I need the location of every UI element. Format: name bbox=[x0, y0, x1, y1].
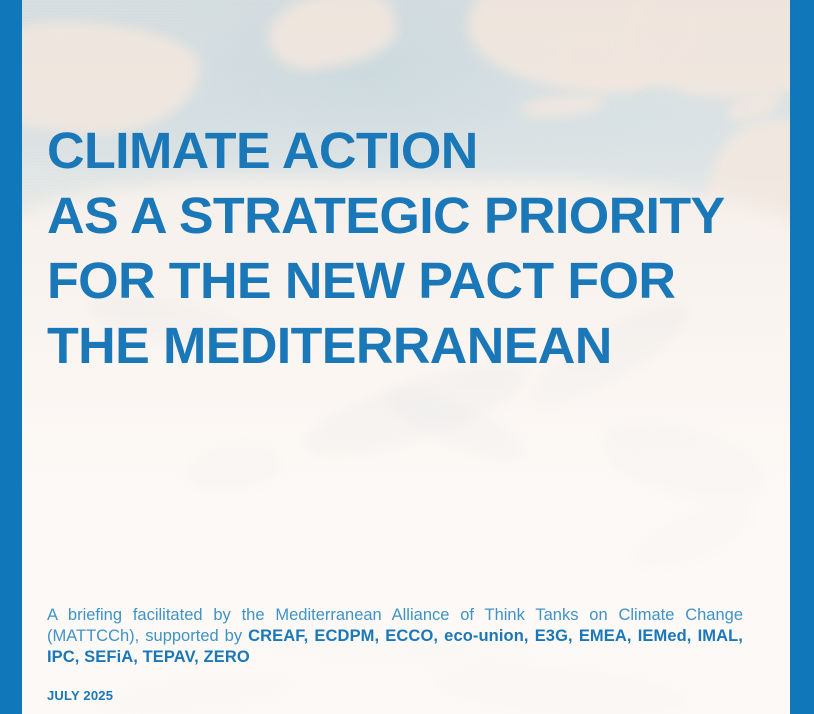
publication-date: JULY 2025 bbox=[47, 688, 113, 703]
cover-content: CLIMATE ACTION AS A STRATEGIC PRIORITY F… bbox=[0, 0, 814, 714]
subtitle-credit: A briefing facilitated by the Mediterran… bbox=[47, 605, 743, 668]
page-title: CLIMATE ACTION AS A STRATEGIC PRIORITY F… bbox=[47, 118, 761, 378]
document-cover-page: CLIMATE ACTION AS A STRATEGIC PRIORITY F… bbox=[0, 0, 814, 714]
